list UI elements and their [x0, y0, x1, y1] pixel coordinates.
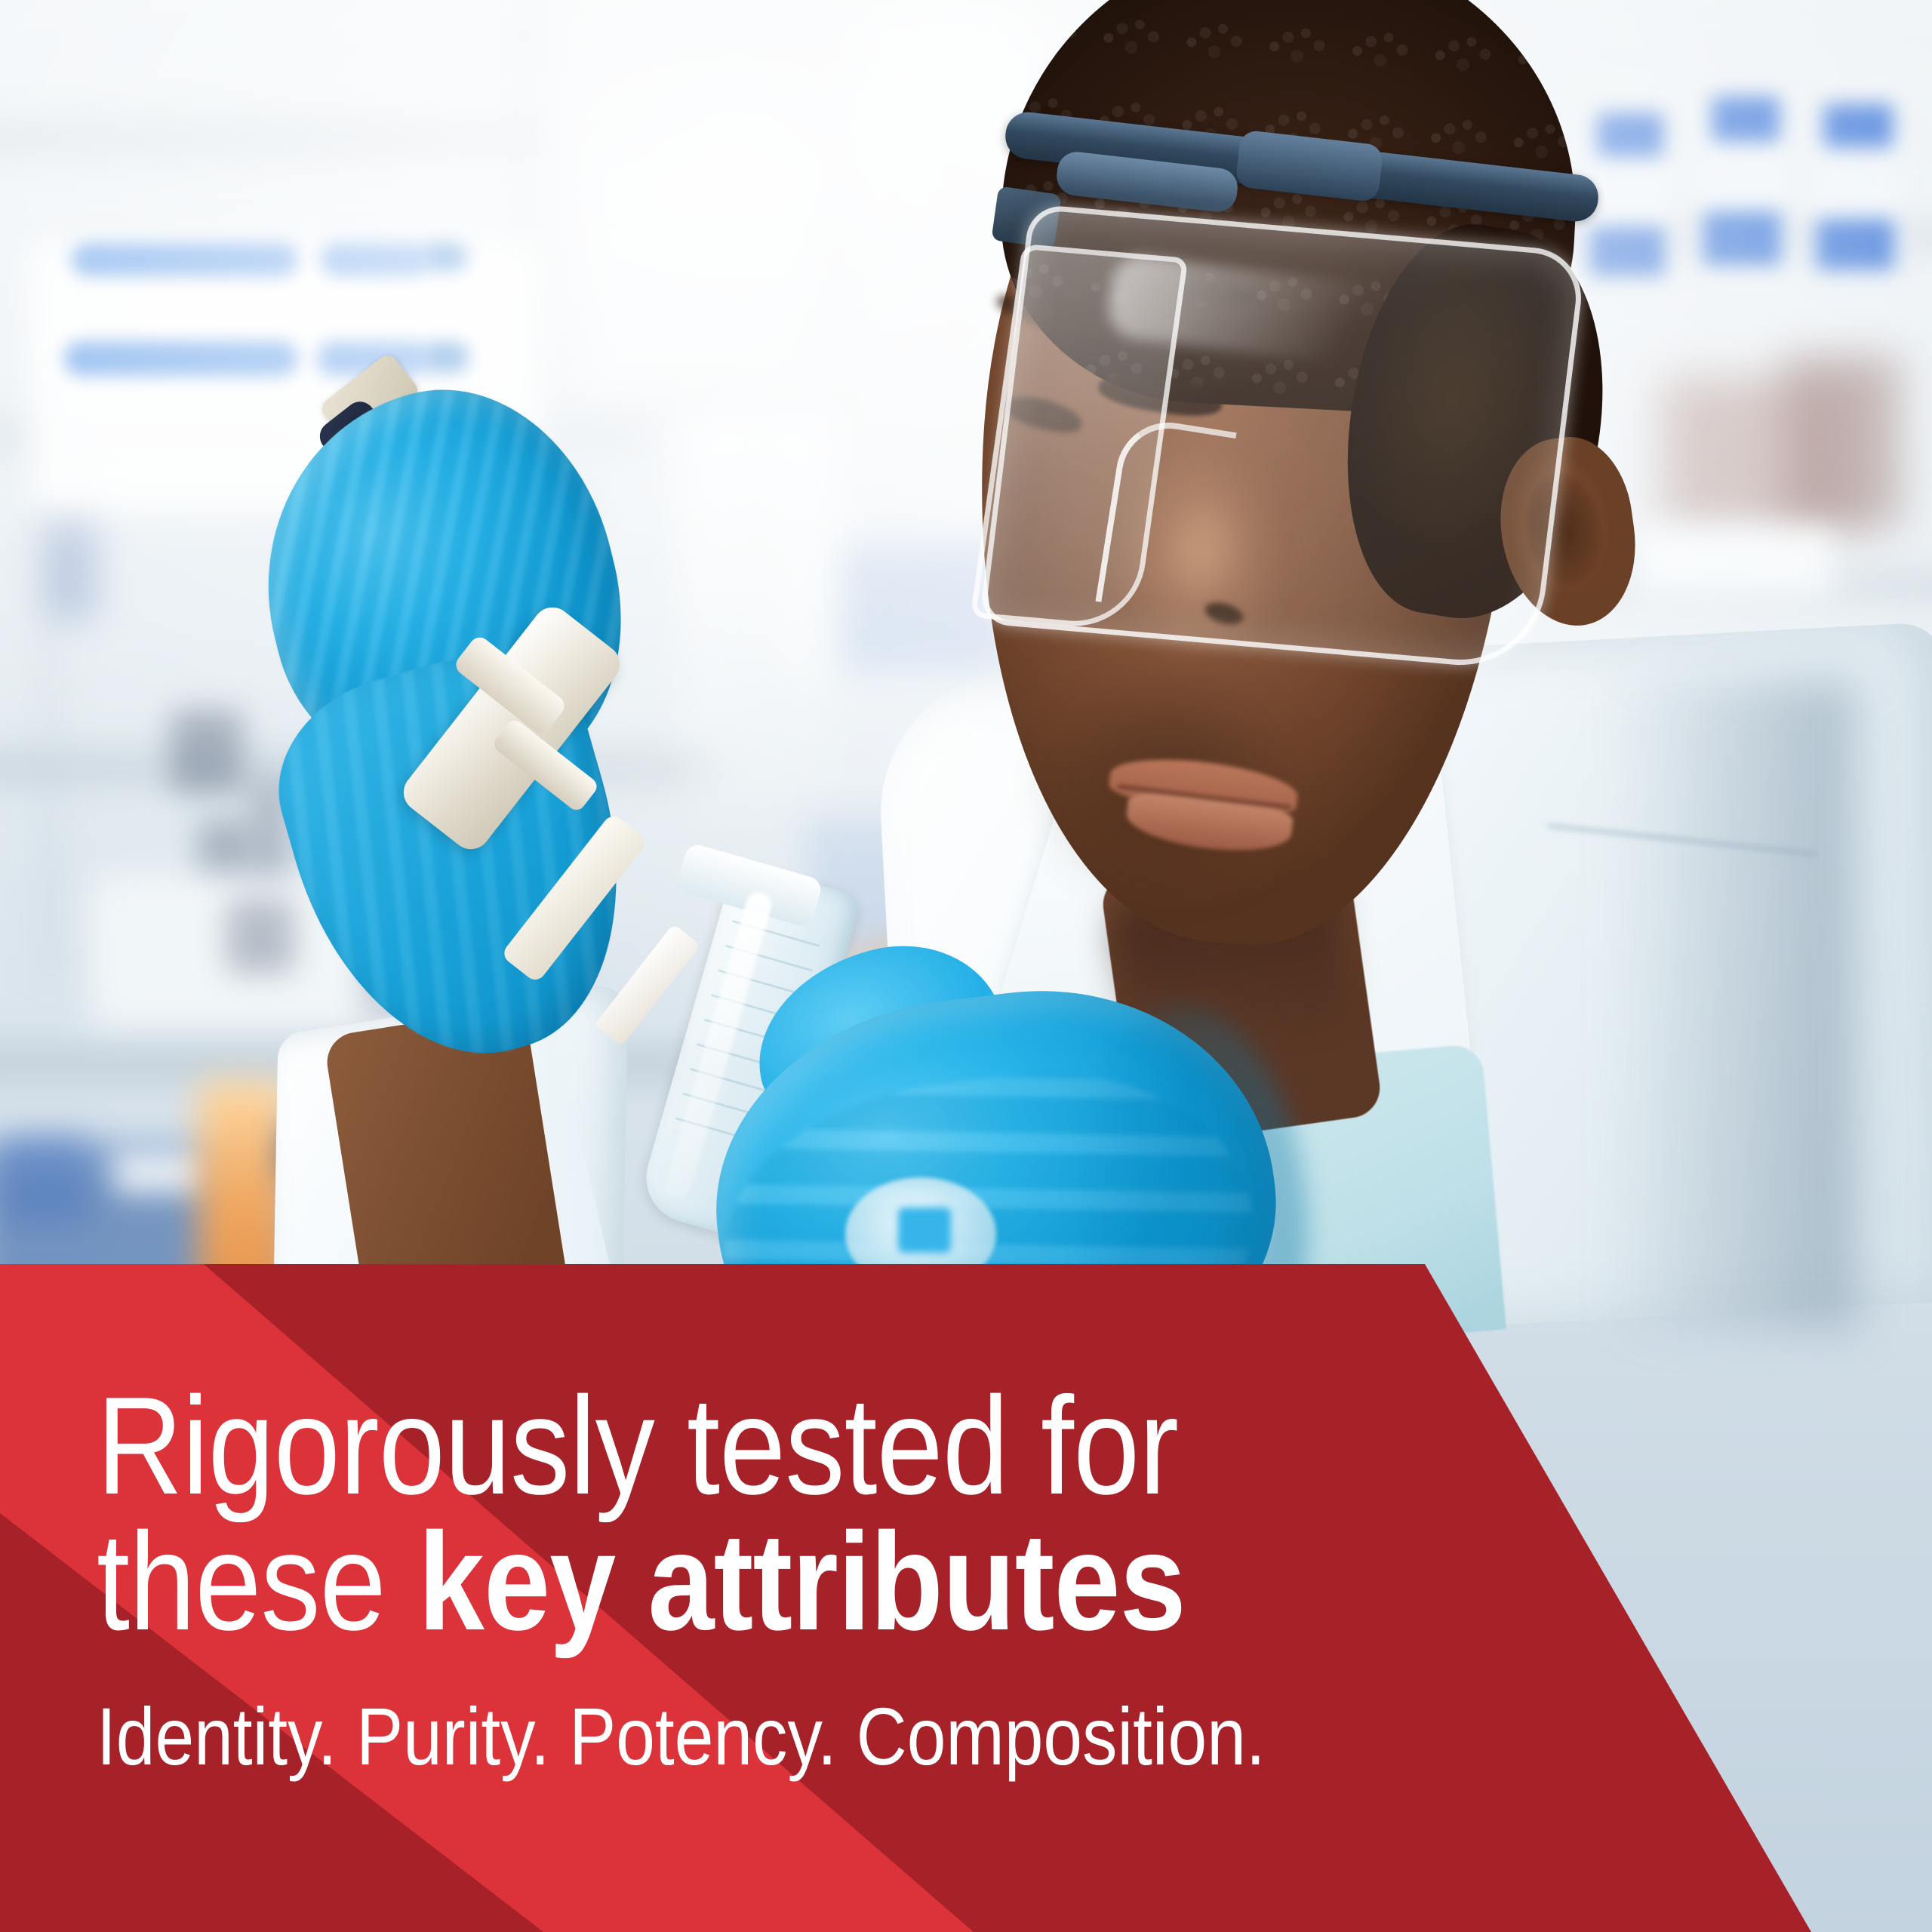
- micropipette-tip: [595, 924, 701, 1046]
- lab-coat-shadow: [1607, 679, 1857, 1328]
- banner-headline: Rigorously tested for these key attribut…: [97, 1377, 1200, 1650]
- banner-subline: Identity. Purity. Potency. Composition.: [97, 1694, 1200, 1779]
- headline-line-1: Rigorously tested for: [97, 1377, 1200, 1513]
- sample-vial-blue-marker: [898, 1207, 951, 1253]
- headline-line-2: these key attributes: [97, 1513, 1200, 1649]
- banner-copy: Rigorously tested for these key attribut…: [97, 1377, 1380, 1779]
- headline-line-2-bold: key attributes: [418, 1503, 1186, 1659]
- headline-line-2-regular: these: [97, 1503, 418, 1659]
- promo-card: Rigorously tested for these key attribut…: [0, 0, 1932, 1932]
